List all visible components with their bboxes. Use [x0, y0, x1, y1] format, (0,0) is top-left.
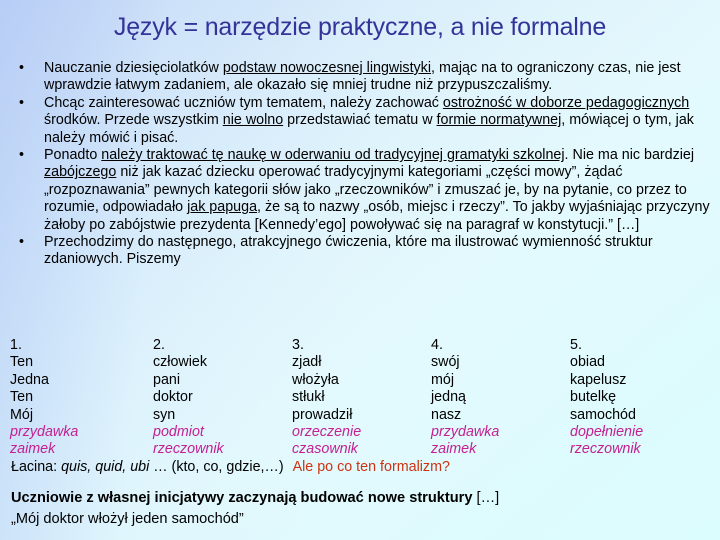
sentence-3-word-col-3: stłukł — [292, 389, 431, 406]
sentence-2-word-col-1: Jedna — [10, 372, 153, 389]
sentence-structure-table: 1.2.3.4.5.TenczłowiekzjadłswójobiadJedna… — [10, 337, 716, 459]
bullet-marker: • — [19, 234, 24, 251]
bullet-2-segment-3: nie wolno — [223, 112, 283, 128]
closing-bold-line: Uczniowie z własnej inicjatywy zaczynają… — [11, 488, 711, 509]
list-item: • Nauczanie dziesięciolatków podstaw now… — [8, 60, 714, 95]
sentence-1-word-col-1: Ten — [10, 354, 153, 371]
sentence-3-word-col-2: doktor — [153, 389, 292, 406]
function-label-col-4: przydawka — [431, 424, 570, 441]
column-number-col-4: 4. — [431, 337, 570, 354]
bullet-2-segment-1: ostrożność w doborze pedagogicznych — [443, 95, 689, 111]
column-number-col-1: 1. — [10, 337, 153, 354]
function-label-col-2: podmiot — [153, 424, 292, 441]
bullet-2-segment-2: środków. Przede wszystkim — [44, 112, 223, 128]
bullet-1-segment-1: podstaw nowoczesnej lingwistyki — [223, 60, 431, 76]
bullet-list: • Nauczanie dziesięciolatków podstaw now… — [8, 60, 714, 269]
function-label-col-1: przydawka — [10, 424, 153, 441]
pos-label-col-2: rzeczownik — [153, 441, 292, 458]
page-title: Język = narzędzie praktyczne, a nie form… — [0, 12, 720, 42]
latin-italic-words: quis, quid, ubi — [61, 459, 149, 475]
bullet-2-segment-4: przedstawiać tematu w — [283, 112, 436, 128]
list-item: • Chcąc zainteresować uczniów tym temate… — [8, 95, 714, 147]
sentence-1-word-col-5: obiad — [570, 354, 702, 371]
slide-canvas: Język = narzędzie praktyczne, a nie form… — [0, 0, 720, 540]
bullet-3-segment-5: jak papuga — [187, 199, 257, 215]
sentence-3-word-col-5: butelkę — [570, 389, 702, 406]
bullet-3-segment-0: Ponadto — [44, 147, 101, 163]
table-row: Mójsynprowadziłnaszsamochód — [10, 407, 702, 424]
sentence-2-word-col-5: kapelusz — [570, 372, 702, 389]
pos-label-col-4: zaimek — [431, 441, 570, 458]
closing-ellipsis: […] — [472, 490, 499, 506]
bullet-3-segment-2: . Nie ma nic bardziej — [565, 147, 695, 163]
column-number-col-3: 3. — [292, 337, 431, 354]
column-number-col-5: 5. — [570, 337, 702, 354]
sentence-2-word-col-3: włożyła — [292, 372, 431, 389]
table-row: zaimekrzeczownikczasownikzaimekrzeczowni… — [10, 441, 702, 458]
column-number-col-2: 2. — [153, 337, 292, 354]
sentence-4-word-col-3: prowadził — [292, 407, 431, 424]
bullet-marker: • — [19, 95, 24, 112]
table: 1.2.3.4.5.TenczłowiekzjadłswójobiadJedna… — [10, 337, 702, 459]
bullet-4-text: Przechodzimy do następnego, atrakcyjnego… — [44, 234, 714, 269]
sentence-2-word-col-2: pani — [153, 372, 292, 389]
closing-quote: „Mój doktor włożył jeden samochód” — [11, 509, 711, 530]
closing-emphasis: Uczniowie z własnej inicjatywy zaczynają… — [11, 490, 472, 506]
sentence-1-word-col-2: człowiek — [153, 354, 292, 371]
sentence-4-word-col-4: nasz — [431, 407, 570, 424]
sentence-1-word-col-4: swój — [431, 354, 570, 371]
bullet-1-text: Nauczanie dziesięciolatków podstaw nowoc… — [44, 60, 714, 95]
pos-label-col-3: czasownik — [292, 441, 431, 458]
latin-prefix: Łacina: — [11, 459, 61, 475]
sentence-2-word-col-4: mój — [431, 372, 570, 389]
function-label-col-5: dopełnienie — [570, 424, 702, 441]
bullet-2-text: Chcąc zainteresować uczniów tym tematem,… — [44, 95, 714, 147]
bullet-3-segment-3: zabójczego — [44, 164, 116, 180]
sentence-4-word-col-5: samochód — [570, 407, 702, 424]
table-row: przydawkapodmiotorzeczenieprzydawkadopeł… — [10, 424, 702, 441]
table-row: Tendoktorstłukłjednąbutelkę — [10, 389, 702, 406]
bullet-2-segment-0: Chcąc zainteresować uczniów tym tematem,… — [44, 95, 443, 111]
table-row: Tenczłowiekzjadłswójobiad — [10, 354, 702, 371]
bullet-marker: • — [19, 147, 24, 164]
formalism-question: Ale po co ten formalizm? — [293, 459, 450, 475]
pos-label-col-5: rzeczownik — [570, 441, 702, 458]
latin-example-line: Łacina: quis, quid, ubi … (kto, co, gdzi… — [11, 459, 711, 476]
bullet-1-segment-0: Nauczanie dziesięciolatków — [44, 60, 223, 76]
sentence-4-word-col-2: syn — [153, 407, 292, 424]
list-item: • Ponadto należy traktować tę naukę w od… — [8, 147, 714, 234]
sentence-3-word-col-4: jedną — [431, 389, 570, 406]
latin-gloss: … (kto, co, gdzie,…) — [149, 459, 283, 475]
sentence-1-word-col-3: zjadł — [292, 354, 431, 371]
bullet-2-segment-5: formie normatywnej — [437, 112, 562, 128]
table-row: Jednapaniwłożyłamójkapelusz — [10, 372, 702, 389]
function-label-col-3: orzeczenie — [292, 424, 431, 441]
closing-block: Uczniowie z własnej inicjatywy zaczynają… — [11, 488, 711, 529]
bullet-3-segment-1: należy traktować tę naukę w oderwaniu od… — [101, 147, 564, 163]
bullet-4-segment-0: Przechodzimy do następnego, atrakcyjnego… — [44, 234, 653, 267]
bullet-3-text: Ponadto należy traktować tę naukę w oder… — [44, 147, 714, 234]
pos-label-col-1: zaimek — [10, 441, 153, 458]
list-item: • Przechodzimy do następnego, atrakcyjne… — [8, 234, 714, 269]
table-row: 1.2.3.4.5. — [10, 337, 702, 354]
bullet-marker: • — [19, 60, 24, 77]
sentence-4-word-col-1: Mój — [10, 407, 153, 424]
sentence-3-word-col-1: Ten — [10, 389, 153, 406]
